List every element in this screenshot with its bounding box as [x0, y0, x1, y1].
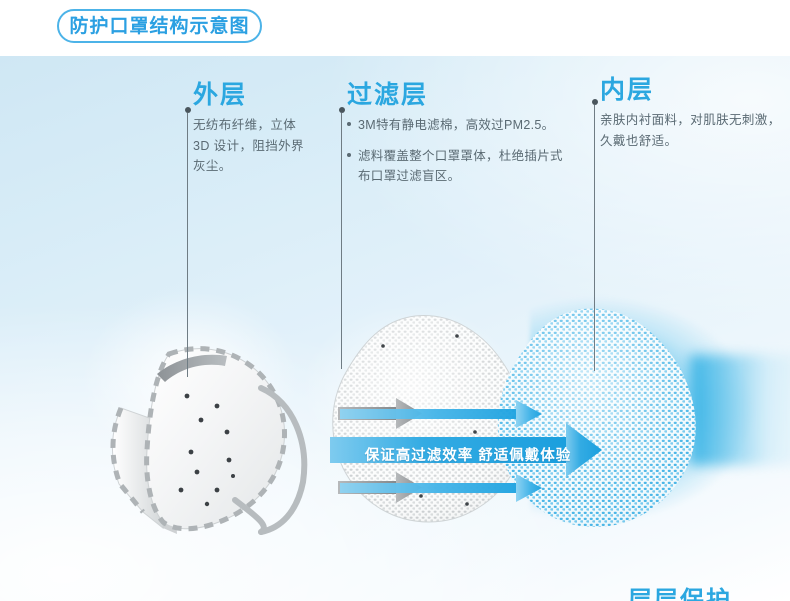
arrow-right-gray-lower	[338, 472, 422, 503]
connector-line	[594, 105, 595, 371]
nose-clip-bar	[157, 355, 227, 382]
mask-fold-shadow	[155, 418, 177, 534]
column-outer: 外层 无纺布纤维，立体 3D 设计，阻挡外界 灰尘。	[193, 82, 333, 176]
connector-dot-icon	[592, 99, 598, 105]
filter-layer-outline	[333, 316, 524, 522]
filter-layer-speckles	[351, 334, 477, 506]
column-inner: 内层 亲肤内衬面料，对肌肤无刺激， 久戴也舒适。	[600, 77, 790, 151]
connector-dot-icon	[185, 107, 191, 113]
slogan-text: 层层保护	[628, 587, 732, 601]
page-title: 防护口罩结构示意图	[69, 17, 249, 36]
column-inner-line-2: 久戴也舒适。	[600, 131, 790, 151]
center-banner-text: 保证高过滤效率 舒适佩戴体验	[365, 444, 572, 465]
title-pill: 防护口罩结构示意图	[57, 9, 262, 43]
connector-line	[187, 113, 188, 377]
mask-front-body	[147, 349, 285, 529]
column-outer-body: 无纺布纤维，立体 3D 设计，阻挡外界 灰尘。	[193, 115, 333, 176]
column-inner-line-1: 亲肤内衬面料，对肌肤无刺激，	[600, 110, 790, 130]
background-panel: 保证高过滤效率 舒适佩戴体验 外层 无纺布纤维，立体 3D 设计，阻挡外界 灰尘…	[0, 55, 790, 601]
outer-mask-illustration	[85, 300, 335, 550]
slogan: 层层保护	[628, 580, 732, 601]
arrow-right-gray-upper	[338, 398, 422, 429]
column-inner-heading: 内层	[600, 77, 790, 103]
mask-side-stitching	[113, 408, 143, 512]
connector-line	[341, 113, 342, 369]
mask-side-panel	[112, 408, 163, 528]
column-outer-line-2: 3D 设计，阻挡外界	[193, 136, 333, 156]
infographic-root: 保证高过滤效率 舒适佩戴体验 外层 无纺布纤维，立体 3D 设计，阻挡外界 灰尘…	[0, 0, 790, 601]
filter-layer-illustration	[325, 300, 555, 540]
glow-left	[40, 255, 340, 505]
center-banner: 保证高过滤效率 舒适佩戴体验	[318, 441, 618, 467]
ear-loop-lower	[235, 500, 264, 532]
list-item: 3M特有静电滤棉，高效过PM2.5。	[347, 115, 569, 135]
column-outer-line-3: 灰尘。	[193, 156, 333, 176]
column-inner-body: 亲肤内衬面料，对肌肤无刺激， 久戴也舒适。	[600, 110, 790, 151]
mask-speckles	[179, 394, 235, 507]
arrow-right-blue-upper	[340, 400, 542, 428]
blue-flare-tail	[690, 355, 790, 465]
ear-loop-upper	[261, 388, 304, 532]
column-outer-line-1: 无纺布纤维，立体	[193, 115, 333, 135]
list-item: 滤料覆盖整个口罩罩体，杜绝插片式布口罩过滤盲区。	[347, 146, 569, 186]
glow-center	[260, 270, 560, 510]
inner-layer-illustration	[487, 295, 727, 545]
arrow-right-blue-lower	[340, 474, 542, 502]
title-bar: 防护口罩结构示意图	[0, 0, 790, 56]
blue-flare-glow	[530, 295, 790, 525]
mask-stitching-dashes	[147, 349, 285, 529]
column-outer-heading: 外层	[193, 82, 333, 108]
column-filter-bullets: 3M特有静电滤棉，高效过PM2.5。 滤料覆盖整个口罩罩体，杜绝插片式布口罩过滤…	[347, 115, 569, 186]
column-filter: 过滤层 3M特有静电滤棉，高效过PM2.5。 滤料覆盖整个口罩罩体，杜绝插片式布…	[347, 82, 569, 186]
column-filter-heading: 过滤层	[347, 82, 569, 108]
connector-dot-icon	[339, 107, 345, 113]
